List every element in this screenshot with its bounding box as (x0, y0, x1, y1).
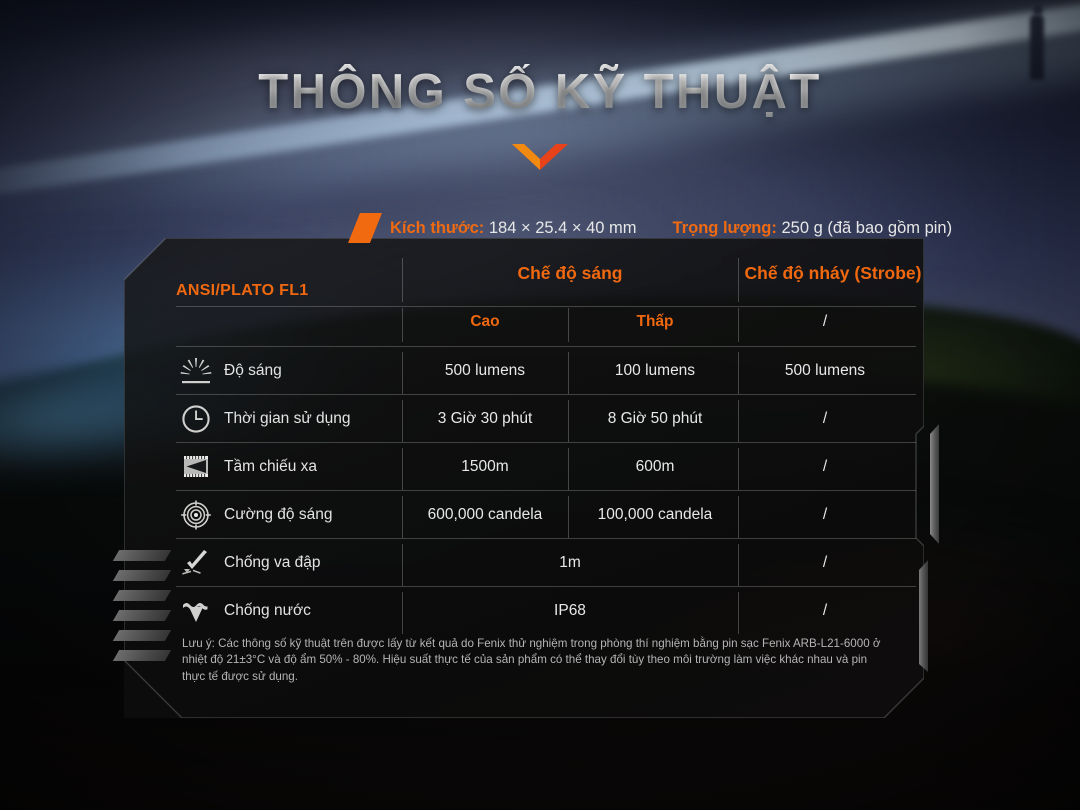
row-2-col-1: 600m (572, 458, 738, 476)
dimensions-spec: Kích thước: 184 × 25.4 × 40 mm (390, 219, 637, 238)
row-5-col-strobe: / (742, 602, 908, 620)
hsep-r2 (176, 490, 916, 491)
row-label-beam-distance: Tầm chiếu xa (224, 458, 317, 476)
group-header-strobe: Chế độ nháy (Strobe) (742, 263, 924, 284)
table-left-header: ANSI/PLATO FL1 (176, 282, 406, 300)
vsep-group-1 (402, 258, 403, 302)
vsep-r0-1 (402, 352, 403, 394)
dimensions-value: 184 × 25.4 × 40 mm (489, 219, 637, 237)
row-2-col-0: 1500m (402, 458, 568, 476)
hsep-r1 (176, 442, 916, 443)
vsep-r2-1 (402, 448, 403, 490)
row-label-runtime: Thời gian sử dụng (224, 410, 351, 428)
page-title-wrap: THÔNG SỐ KỸ THUẬT (0, 64, 1080, 120)
vsep-r3-3 (738, 496, 739, 538)
right-accent-bar-upper (930, 424, 939, 544)
beam-distance-icon (180, 452, 212, 482)
water-resistance-icon (180, 596, 212, 626)
vsep-r0-2 (568, 352, 569, 394)
mode-header-strobe: / (742, 313, 908, 331)
vsep-r1-3 (738, 400, 739, 442)
vsep-r1-2 (568, 400, 569, 442)
vsep-r2-2 (568, 448, 569, 490)
target-intensity-icon (180, 500, 212, 530)
vsep-group-2 (738, 258, 739, 302)
vsep-r2-3 (738, 448, 739, 490)
hsep-under-modes (176, 346, 916, 347)
vsep-r5-2 (738, 592, 739, 634)
vsep-r0-3 (738, 352, 739, 394)
row-4-col-merged: 1m (402, 554, 738, 572)
row-0-col-2: 500 lumens (742, 362, 908, 380)
group-header-brightness: Chế độ sáng (402, 263, 738, 284)
hsep-r3 (176, 538, 916, 539)
hsep-r0 (176, 394, 916, 395)
sunburst-icon (180, 356, 212, 386)
dimensions-label: Kích thước: (390, 219, 484, 237)
row-label-waterproof: Chống nước (224, 602, 311, 620)
row-3-col-0: 600,000 candela (402, 506, 568, 524)
weight-label: Trọng lượng: (673, 219, 777, 237)
row-0-col-0: 500 lumens (402, 362, 568, 380)
row-1-col-0: 3 Giờ 30 phút (402, 410, 568, 428)
vsep-r3-2 (568, 496, 569, 538)
vsep-mode-3 (738, 308, 739, 342)
page-title: THÔNG SỐ KỸ THUẬT (258, 64, 821, 120)
vsep-mode-2 (568, 308, 569, 342)
vsep-r4-2 (738, 544, 739, 586)
row-5-col-merged: IP68 (402, 602, 738, 620)
row-1-col-2: / (742, 410, 908, 428)
row-1-col-1: 8 Giờ 50 phút (572, 410, 738, 428)
weight-spec: Trọng lượng: 250 g (đã bao gồm pin) (673, 219, 953, 238)
mode-header-high: Cao (402, 313, 568, 331)
chevron-down-icon (0, 142, 1080, 177)
spec-summary-bar: Kích thước: 184 × 25.4 × 40 mm Trọng lượ… (348, 208, 948, 248)
spec-table: ANSI/PLATO FL1 Chế độ sáng Chế độ nháy (… (124, 238, 924, 718)
mode-header-low: Thấp (572, 313, 738, 331)
row-label-brightness: Độ sáng (224, 362, 282, 380)
orange-slash-accent (348, 211, 382, 245)
spec-panel: ANSI/PLATO FL1 Chế độ sáng Chế độ nháy (… (124, 238, 924, 718)
vsep-r3-1 (402, 496, 403, 538)
row-label-impact: Chống va đập (224, 554, 321, 572)
row-4-col-strobe: / (742, 554, 908, 572)
hsep-under-groups (176, 306, 916, 307)
row-0-col-1: 100 lumens (572, 362, 738, 380)
row-3-col-2: / (742, 506, 908, 524)
vsep-mode-1 (402, 308, 403, 342)
row-3-col-1: 100,000 candela (572, 506, 738, 524)
vsep-r1-1 (402, 400, 403, 442)
vsep-r5-1 (402, 592, 403, 634)
hsep-r4 (176, 586, 916, 587)
footnote-text: Lưu ý: Các thông số kỹ thuật trên được l… (182, 636, 882, 685)
row-label-intensity: Cường độ sáng (224, 506, 332, 524)
impact-resistance-icon (180, 548, 212, 578)
vsep-r4-1 (402, 544, 403, 586)
weight-value: 250 g (đã bao gồm pin) (781, 219, 952, 237)
clock-icon (180, 404, 212, 434)
row-2-col-2: / (742, 458, 908, 476)
